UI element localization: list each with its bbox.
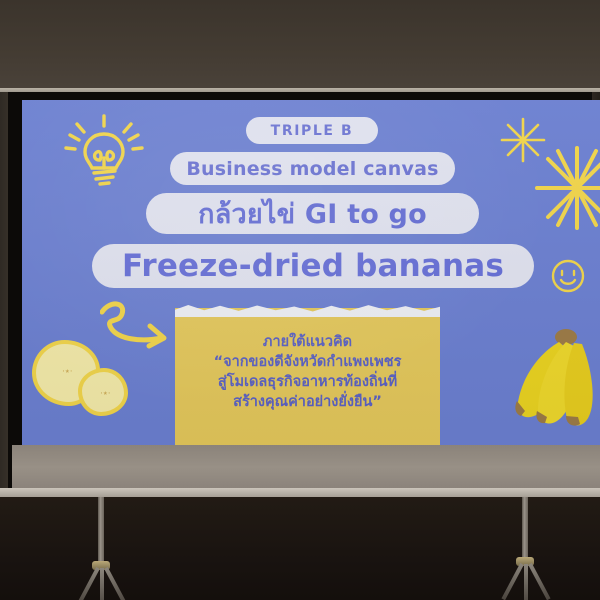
banana-slice-small: ·٭· [78, 368, 128, 416]
slide-badge-triple-b: TRIPLE B [246, 117, 378, 144]
smiley-face-icon [550, 258, 586, 294]
screen-stand-right-leg [524, 564, 528, 600]
concept-line: “จากของดีจังหวัดกำแพงเพชร [175, 352, 440, 372]
projection-screen-surface: ·٭· ·٭· TRIPLE B Business model c [22, 100, 600, 445]
concept-line: สู่โมเดลธุรกิจอาหารท้องถิ่นที่ [175, 372, 440, 392]
screen-stand-right-pole [522, 497, 528, 559]
concept-line: ภายใต้แนวคิด [175, 332, 440, 352]
banana-bunch-illustration [504, 328, 600, 445]
screen-lower-blank-area [12, 445, 600, 490]
slice-seed-marks: ·٭· [100, 390, 111, 398]
lightbulb-icon [64, 112, 144, 194]
screen-stand-left-pole [98, 497, 104, 563]
room-wall-upper [0, 0, 600, 92]
sparkle-large-icon [534, 145, 600, 231]
presentation-slide: ·٭· ·٭· TRIPLE B Business model c [22, 100, 600, 445]
screen-stand-left-leg [100, 568, 104, 600]
slide-title-english: Freeze-dried bananas [92, 244, 534, 288]
slide-subtitle-business-model-canvas: Business model canvas [170, 152, 455, 185]
slice-seed-marks: ·٭· [62, 368, 73, 376]
curly-arrow-icon [100, 296, 180, 354]
concept-card: ภายใต้แนวคิด “จากของดีจังหวัดกำแพงเพชร ส… [175, 308, 440, 445]
slide-title-thai: กล้วยไข่ GI to go [146, 193, 479, 234]
photo-scene: ·٭· ·٭· TRIPLE B Business model c [0, 0, 600, 600]
concept-card-text: ภายใต้แนวคิด “จากของดีจังหวัดกำแพงเพชร ส… [175, 332, 440, 412]
concept-line: สร้างคุณค่าอย่างยั่งยืน” [175, 392, 440, 412]
torn-paper-edge [175, 301, 440, 317]
